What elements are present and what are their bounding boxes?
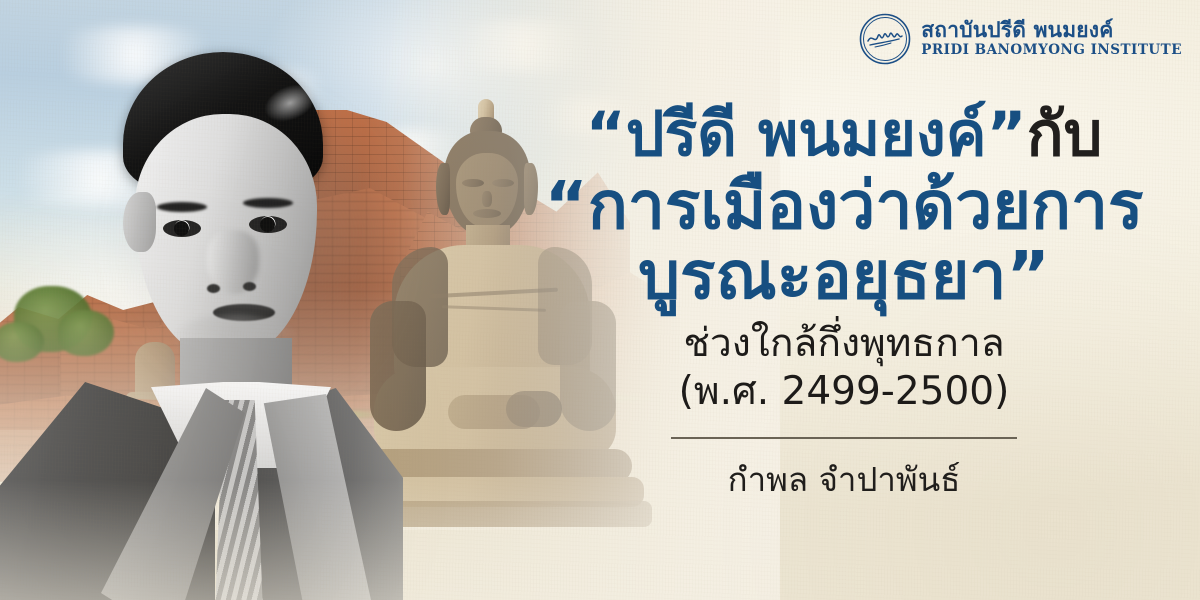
subtitle-line-2: (พ.ศ. 2499-2500) xyxy=(524,369,1164,415)
logo-english-name: PRIDI BANOMYONG INSTITUTE xyxy=(921,44,1182,58)
cover-text-block: “ปรีดี พนมยงค์”กับ “การเมืองว่าด้วยการ บ… xyxy=(524,104,1164,506)
logo-thai-name: สถาบันปรีดี พนมยงค์ xyxy=(921,20,1182,41)
headline-line-1: “ปรีดี พนมยงค์”กับ xyxy=(524,104,1164,165)
logo-wordmark: สถาบันปรีดี พนมยงค์ PRIDI BANOMYONG INST… xyxy=(921,20,1182,58)
headline-line-1-suffix: กับ xyxy=(1027,99,1103,170)
headline-line-1-quoted: “ปรีดี พนมยงค์” xyxy=(586,99,1027,170)
headline-line-2: “การเมืองว่าด้วยการ xyxy=(524,173,1164,239)
institute-logo[interactable]: สถาบันปรีดี พนมยงค์ PRIDI BANOMYONG INST… xyxy=(858,12,1182,66)
author-name: กำพล จำปาพันธ์ xyxy=(524,453,1164,506)
pridi-signature-emblem-icon xyxy=(858,12,912,66)
subtitle-line-1: ช่วงใกล้กึ่งพุทธกาล xyxy=(524,321,1164,367)
headline-line-3: บูรณะอยุธยา” xyxy=(524,243,1164,309)
article-cover-banner: สถาบันปรีดี พนมยงค์ PRIDI BANOMYONG INST… xyxy=(0,0,1200,600)
author-divider xyxy=(671,437,1017,439)
